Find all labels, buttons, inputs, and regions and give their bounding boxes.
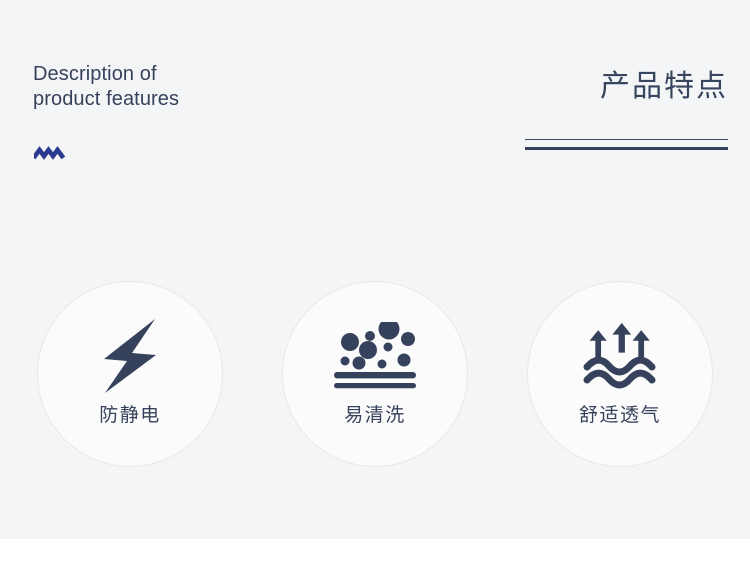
zigzag-icon: [34, 145, 68, 161]
feature-list: 防静电: [0, 281, 750, 469]
feature-label: 易清洗: [344, 404, 406, 428]
product-features-panel: Description of product features 产品特点 防静电: [0, 0, 750, 563]
feature-label: 防静电: [99, 404, 161, 428]
header-left-group: Description of product features: [33, 62, 333, 112]
dust-particles-fabric-icon: [332, 320, 418, 392]
header-rule-thick: [525, 147, 728, 150]
feature-label: 舒适透气: [579, 404, 661, 428]
header-right-group: 产品特点: [513, 66, 728, 108]
page-title-chinese: 产品特点: [513, 66, 728, 108]
feature-item-breathable[interactable]: 舒适透气: [527, 281, 713, 467]
header-rule-thin: [525, 139, 728, 140]
feature-item-easy-clean[interactable]: 易清洗: [282, 281, 468, 467]
feature-item-anti-static[interactable]: 防静电: [37, 281, 223, 467]
page-title-english: Description of product features: [33, 62, 333, 112]
breathable-airflow-waves-icon: [579, 320, 661, 392]
lightning-bolt-icon: [98, 320, 162, 392]
